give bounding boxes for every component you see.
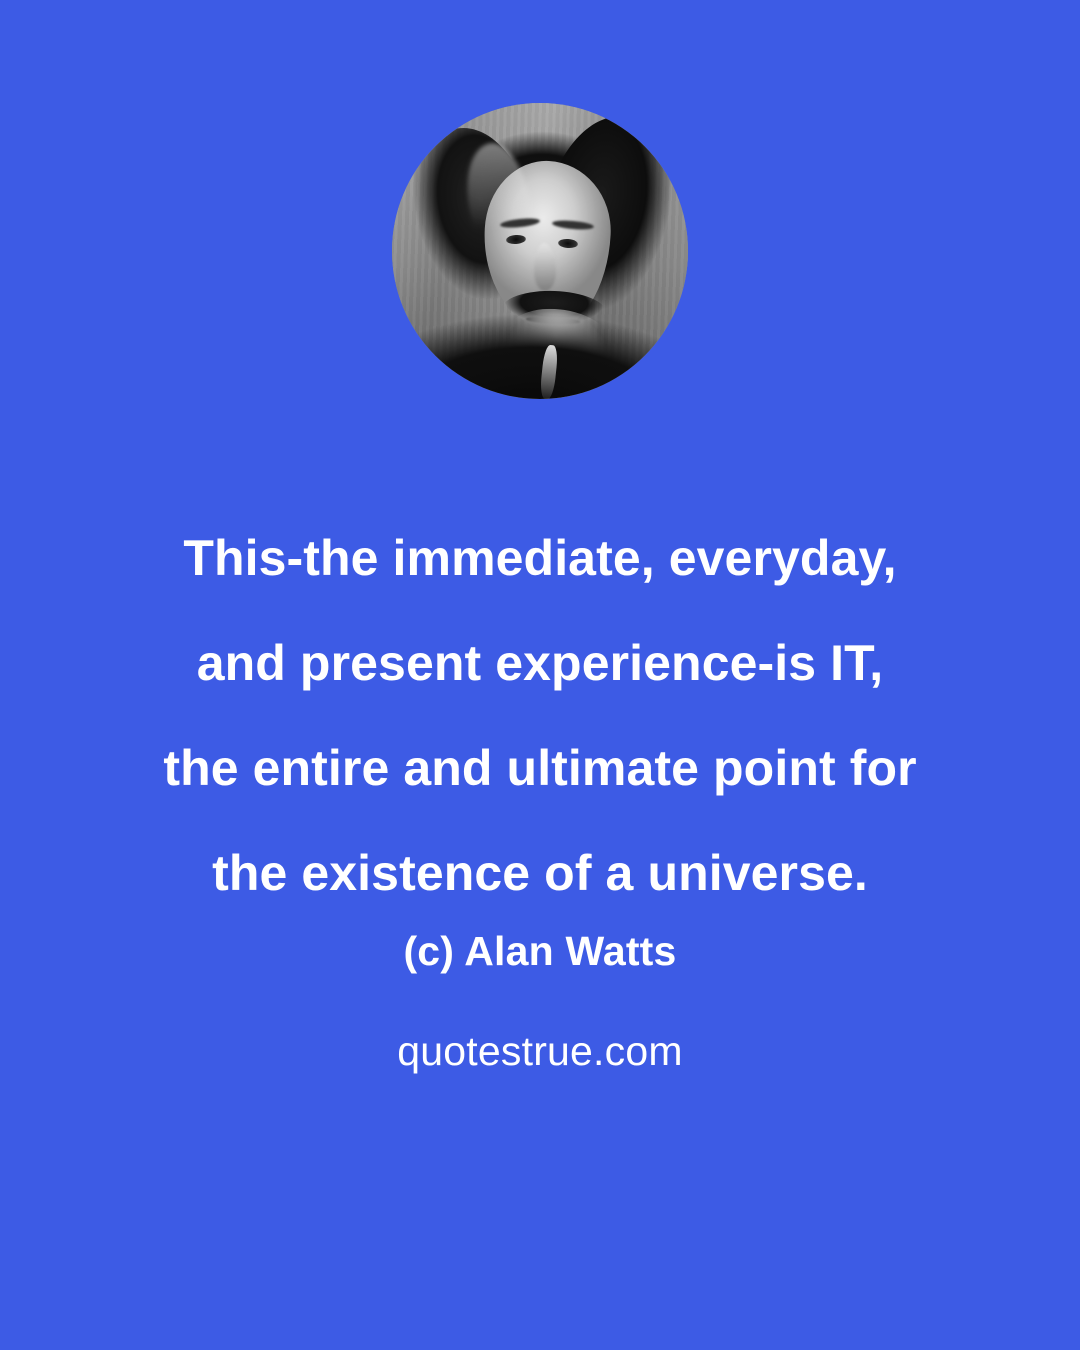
quote-line: This-the immediate, everyday, [0,506,1080,611]
quote-line: the existence of a universe. [0,821,1080,926]
quote-text: This-the immediate, everyday, and presen… [0,506,1080,926]
quote-line: and present experience-is IT, [0,611,1080,716]
author-portrait [392,103,688,399]
quote-line: the entire and ultimate point for [0,716,1080,821]
source-website: quotestrue.com [0,1028,1080,1075]
quote-card: This-the immediate, everyday, and presen… [0,0,1080,1350]
portrait-photo [392,103,688,399]
quote-attribution: (c) Alan Watts [0,928,1080,975]
